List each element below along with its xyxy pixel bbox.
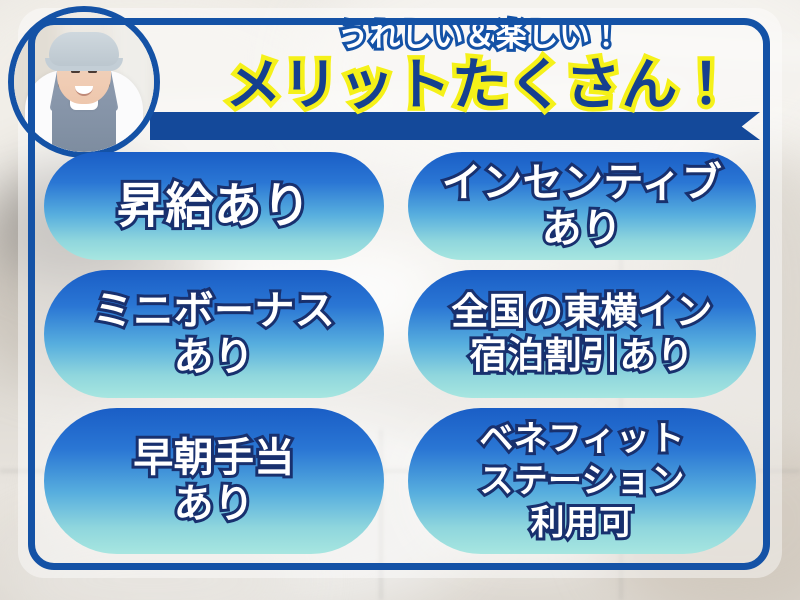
benefit-pill-pay-raise[interactable]: 昇給あり: [44, 152, 384, 260]
benefits-grid: 昇給あり インセンティブ あり ミニボーナス あり 全国の東横イン 宿泊割引あり…: [44, 152, 756, 572]
headline-top-line: うれしい＆楽しい！: [180, 16, 780, 56]
benefit-pill-label: インセンティブ あり: [434, 160, 730, 252]
benefit-pill-benefit-station[interactable]: ベネフィット ステーション 利用可: [408, 408, 756, 554]
poster-stage: うれしい＆楽しい！ メリットたくさん！ 昇給あり インセンティブ あり: [0, 0, 800, 600]
headline-block: うれしい＆楽しい！ メリットたくさん！: [180, 16, 780, 146]
benefit-pill-incentive[interactable]: インセンティブ あり: [408, 152, 756, 260]
benefit-pill-hotel-discount[interactable]: 全国の東横イン 宿泊割引あり: [408, 270, 756, 398]
benefit-pill-label: 全国の東横イン 宿泊割引あり: [443, 290, 721, 378]
benefits-row: 昇給あり インセンティブ あり: [44, 152, 756, 264]
benefit-pill-label: 早朝手当 あり: [125, 435, 303, 527]
benefits-row: ミニボーナス あり 全国の東横イン 宿泊割引あり: [44, 270, 756, 404]
benefits-row: 早朝手当 あり ベネフィット ステーション 利用可: [44, 408, 756, 560]
benefit-pill-mini-bonus[interactable]: ミニボーナス あり: [44, 270, 384, 398]
benefit-pill-label: ミニボーナス あり: [85, 288, 343, 380]
benefit-pill-early-morning-allowance[interactable]: 早朝手当 あり: [44, 408, 384, 554]
headline-main-line: メリットたくさん！: [180, 54, 780, 118]
benefit-pill-label: ベネフィット ステーション 利用可: [471, 418, 692, 544]
benefit-pill-label: 昇給あり: [109, 178, 319, 234]
avatar-chef-cap: [49, 32, 119, 66]
staff-portrait-avatar: [8, 6, 160, 158]
